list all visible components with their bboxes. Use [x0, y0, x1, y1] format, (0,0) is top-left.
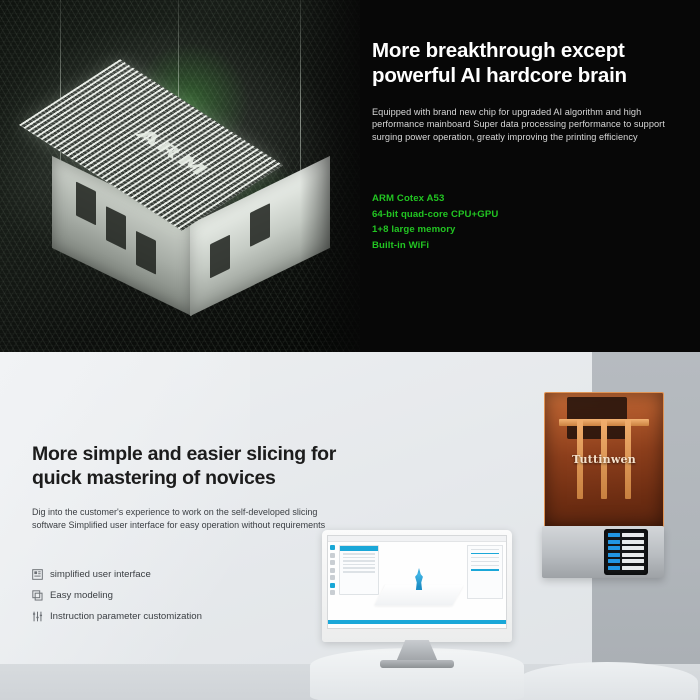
feature-item: Easy modeling: [32, 585, 202, 606]
image-fade-overlay: [300, 0, 360, 352]
slicer-settings-panel[interactable]: [339, 545, 379, 595]
resin-3d-printer: Tuttinwen: [544, 392, 662, 604]
slicer-properties-panel[interactable]: [467, 545, 503, 599]
spec-item: ARM Cotex A53: [372, 191, 498, 207]
spec-list: ARM Cotex A53 64-bit quad-core CPU+GPU 1…: [372, 191, 498, 253]
printer-inner-chamber: [567, 397, 627, 439]
printer-hood: Tuttinwen: [544, 392, 664, 528]
feature-label: simplified user interface: [50, 564, 151, 585]
monitor-stand-foot: [380, 660, 454, 668]
printer-touchscreen[interactable]: [604, 529, 648, 575]
top-dark-section: ARM More breakthrough except powerful AI…: [0, 0, 700, 352]
slicer-tool-rail[interactable]: [330, 545, 337, 598]
feature-label: Easy modeling: [50, 585, 113, 606]
top-heading: More breakthrough except powerful AI har…: [372, 38, 672, 88]
bottom-copy-block: More simple and easier slicing for quick…: [32, 442, 352, 531]
printer-pedestal: [516, 662, 698, 700]
product-infographic-page: ARM More breakthrough except powerful AI…: [0, 0, 700, 700]
slicer-status-bar: [328, 620, 506, 624]
slicer-workspace: [328, 542, 506, 624]
sliders-icon: [32, 611, 43, 622]
monitor-bezel: [322, 530, 512, 642]
monitor-stand-neck: [396, 640, 438, 662]
chip-render-image: ARM: [0, 0, 360, 352]
copy-cube-icon: [32, 590, 43, 601]
isometric-chip: ARM: [38, 40, 328, 310]
bottom-paragraph: Dig into the customer's experience to wo…: [32, 506, 352, 531]
bottom-heading: More simple and easier slicing for quick…: [32, 442, 352, 490]
top-copy-block: More breakthrough except powerful AI har…: [372, 38, 672, 143]
bottom-light-section: More simple and easier slicing for quick…: [0, 352, 700, 700]
spec-item: 64-bit quad-core CPU+GPU: [372, 207, 498, 223]
desktop-monitor: [322, 530, 512, 680]
feature-item: Instruction parameter customization: [32, 606, 202, 627]
layout-grid-icon: [32, 569, 43, 580]
feature-item: simplified user interface: [32, 564, 202, 585]
feature-list: simplified user interface Easy modeling: [32, 564, 202, 627]
feature-label: Instruction parameter customization: [50, 606, 202, 627]
printer-brand-logo: Tuttinwen: [545, 453, 663, 466]
spec-item: Built-in WiFi: [372, 238, 498, 254]
monitor-screen: [327, 535, 507, 629]
spec-item: 1+8 large memory: [372, 222, 498, 238]
top-paragraph: Equipped with brand new chip for upgrade…: [372, 106, 672, 143]
